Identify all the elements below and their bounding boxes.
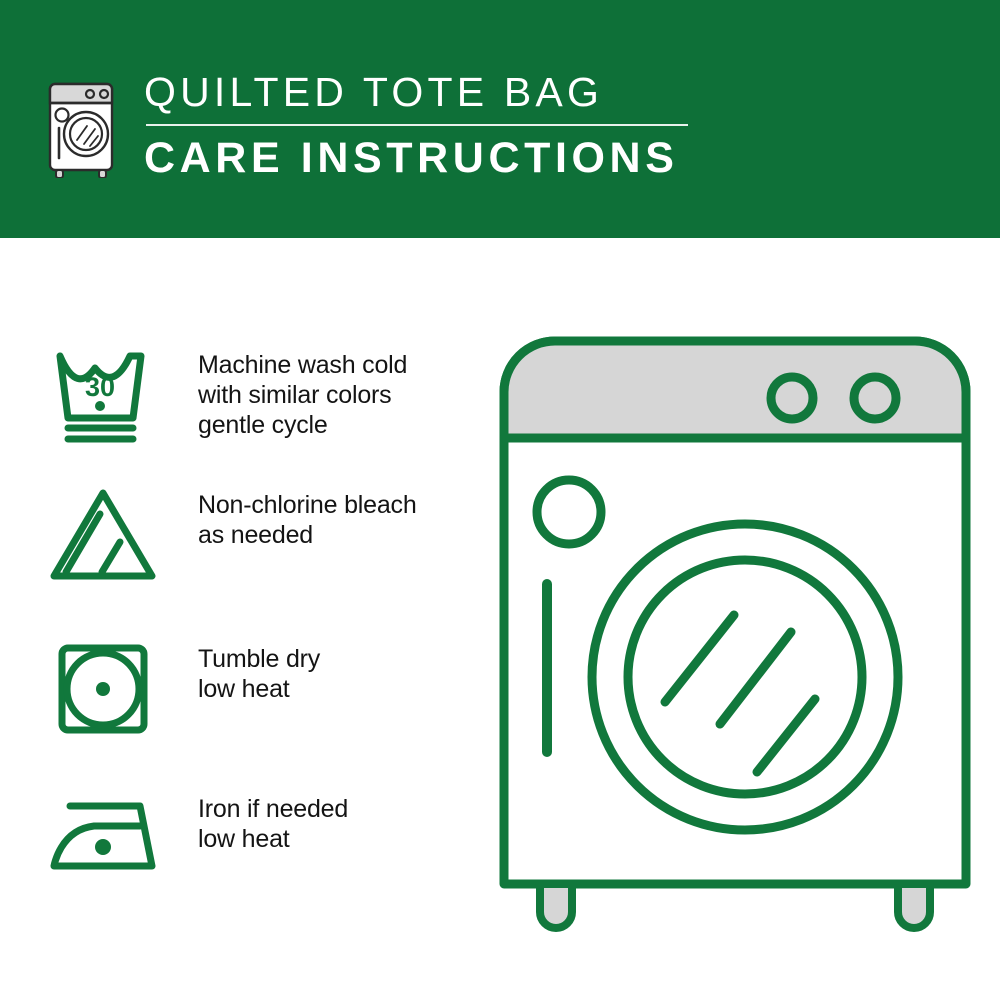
care-text-wash: Machine wash cold with similar colors ge… bbox=[198, 344, 407, 440]
care-text-iron: Iron if needed low heat bbox=[198, 788, 348, 854]
care-row-wash: 30 Machine wash cold with similar colors… bbox=[48, 344, 478, 448]
iron-icon bbox=[48, 788, 166, 892]
washing-machine-icon bbox=[44, 68, 126, 178]
title-divider bbox=[146, 124, 688, 126]
care-row-iron: Iron if needed low heat bbox=[48, 788, 478, 892]
wash-temperature-label: 30 bbox=[85, 372, 115, 402]
care-row-bleach: Non-chlorine bleach as needed bbox=[48, 484, 478, 588]
care-row-tumble-dry: Tumble dry low heat bbox=[48, 638, 478, 742]
tumble-dry-icon bbox=[48, 638, 166, 742]
page-subtitle: CARE INSTRUCTIONS bbox=[144, 133, 844, 183]
wash-tub-icon: 30 bbox=[48, 344, 166, 448]
header-band: QUILTED TOTE BAG CARE INSTRUCTIONS bbox=[0, 0, 1000, 238]
bleach-triangle-icon bbox=[48, 484, 166, 588]
leg-right bbox=[898, 884, 930, 928]
care-instructions-page: QUILTED TOTE BAG CARE INSTRUCTIONS 30 Ma… bbox=[0, 0, 1000, 1000]
care-text-tumble-dry: Tumble dry low heat bbox=[198, 638, 320, 704]
header-text-block: QUILTED TOTE BAG CARE INSTRUCTIONS bbox=[144, 66, 844, 183]
care-text-bleach: Non-chlorine bleach as needed bbox=[198, 484, 417, 550]
page-title: QUILTED TOTE BAG bbox=[144, 66, 844, 118]
washing-machine-illustration bbox=[495, 332, 975, 932]
leg-left bbox=[540, 884, 572, 928]
